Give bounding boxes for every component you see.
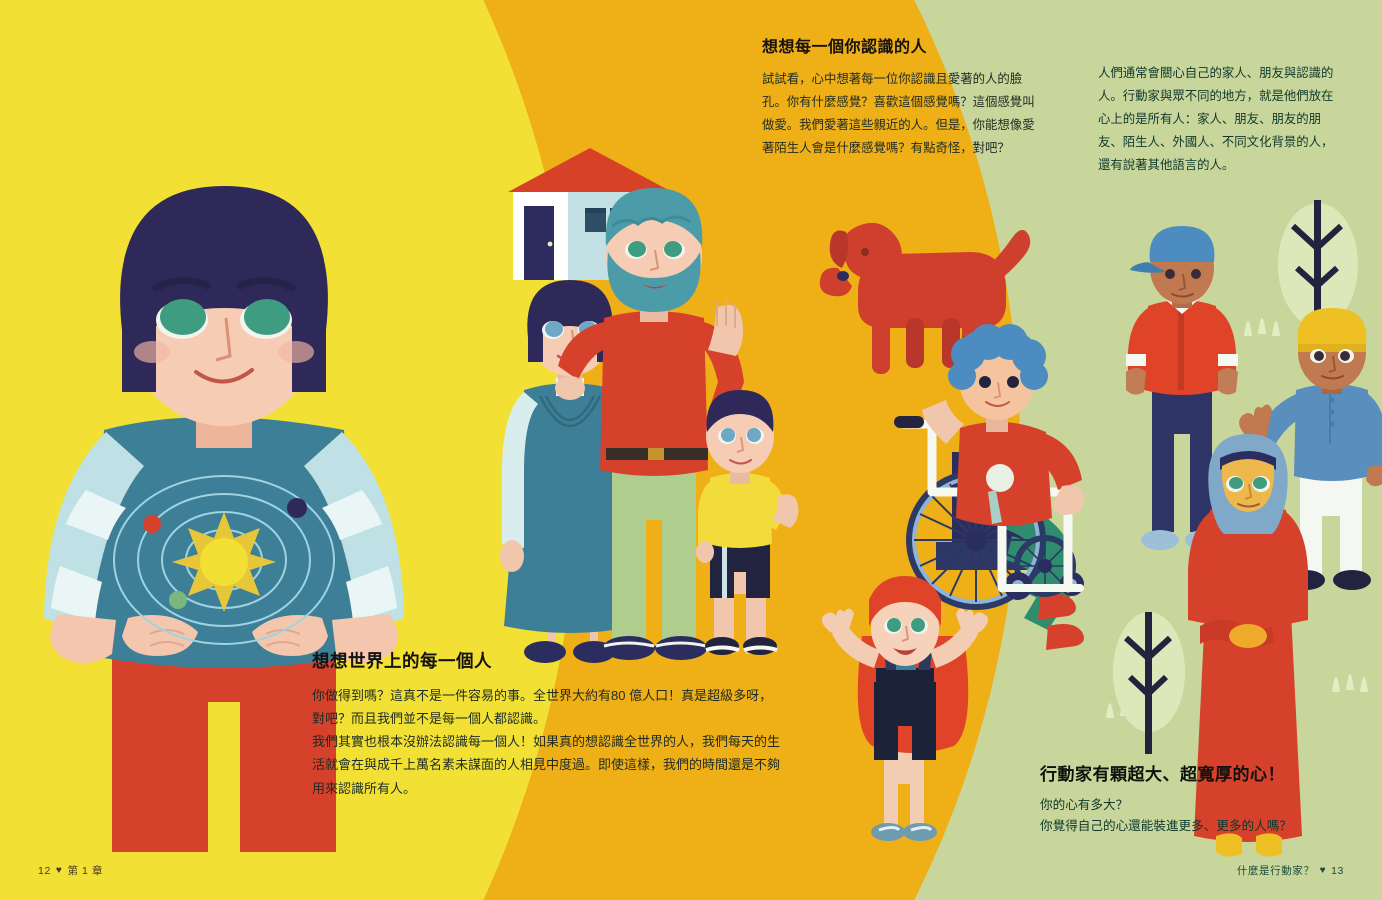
text-block-heart: 行動家有顆超大、超寬厚的心！ 你的心有多大？ 你覺得自己的心還能裝進更多、更多的…	[1040, 760, 1370, 838]
heart-icon-left: ♥	[56, 865, 63, 876]
know-heading: 想想每一個你認識的人	[762, 33, 1040, 57]
tree-icon-lower	[1113, 612, 1185, 754]
young-boy-figure	[696, 390, 798, 655]
heart-icon-right: ♥	[1320, 865, 1327, 876]
know-body: 試試看，心中想著每一位你認識且愛著的人的臉孔。你有什麼感覺？喜歡這個感覺嗎？這個…	[762, 68, 1040, 160]
book-spread: 行動家 會與他人連結， 並將他人放在心上 想想世界上的每一個人 你做得到嗎？這真…	[0, 0, 1382, 900]
footer-right: 什麼是行動家？ ♥ 13	[1237, 863, 1344, 878]
text-block-know: 想想每一個你認識的人 試試看，心中想著每一位你認識且愛著的人的臉孔。你有什麼感覺…	[762, 33, 1040, 160]
heart-body-line2: 你覺得自己的心還能裝進更多、更多的人嗎？	[1040, 816, 1370, 837]
text-block-world: 想想世界上的每一個人 你做得到嗎？這真不是一件容易的事。全世界大約有80 億人口…	[312, 648, 782, 800]
heart-body-line1: 你的心有多大？	[1040, 795, 1370, 816]
footer-left-page-number: 12	[38, 865, 51, 877]
footer-right-label: 什麼是行動家？	[1237, 863, 1315, 878]
footer-right-page-number: 13	[1331, 865, 1344, 877]
footer-left-label: 第 1 章	[67, 863, 103, 878]
footer-left: 12 ♥ 第 1 章	[38, 863, 103, 878]
text-block-people: 人們通常會關心自己的家人、朋友與認識的人。行動家與眾不同的地方，就是他們放在心上…	[1098, 62, 1340, 177]
heart-heading: 行動家有顆超大、超寬厚的心！	[1040, 760, 1370, 785]
redhead-girl-figure	[822, 576, 988, 841]
world-body: 你做得到嗎？這真不是一件容易的事。全世界大約有80 億人口！真是超級多呀，對吧？…	[312, 684, 782, 800]
world-heading: 想想世界上的每一個人	[312, 648, 782, 673]
people-body: 人們通常會關心自己的家人、朋友與認識的人。行動家與眾不同的地方，就是他們放在心上…	[1098, 62, 1340, 177]
